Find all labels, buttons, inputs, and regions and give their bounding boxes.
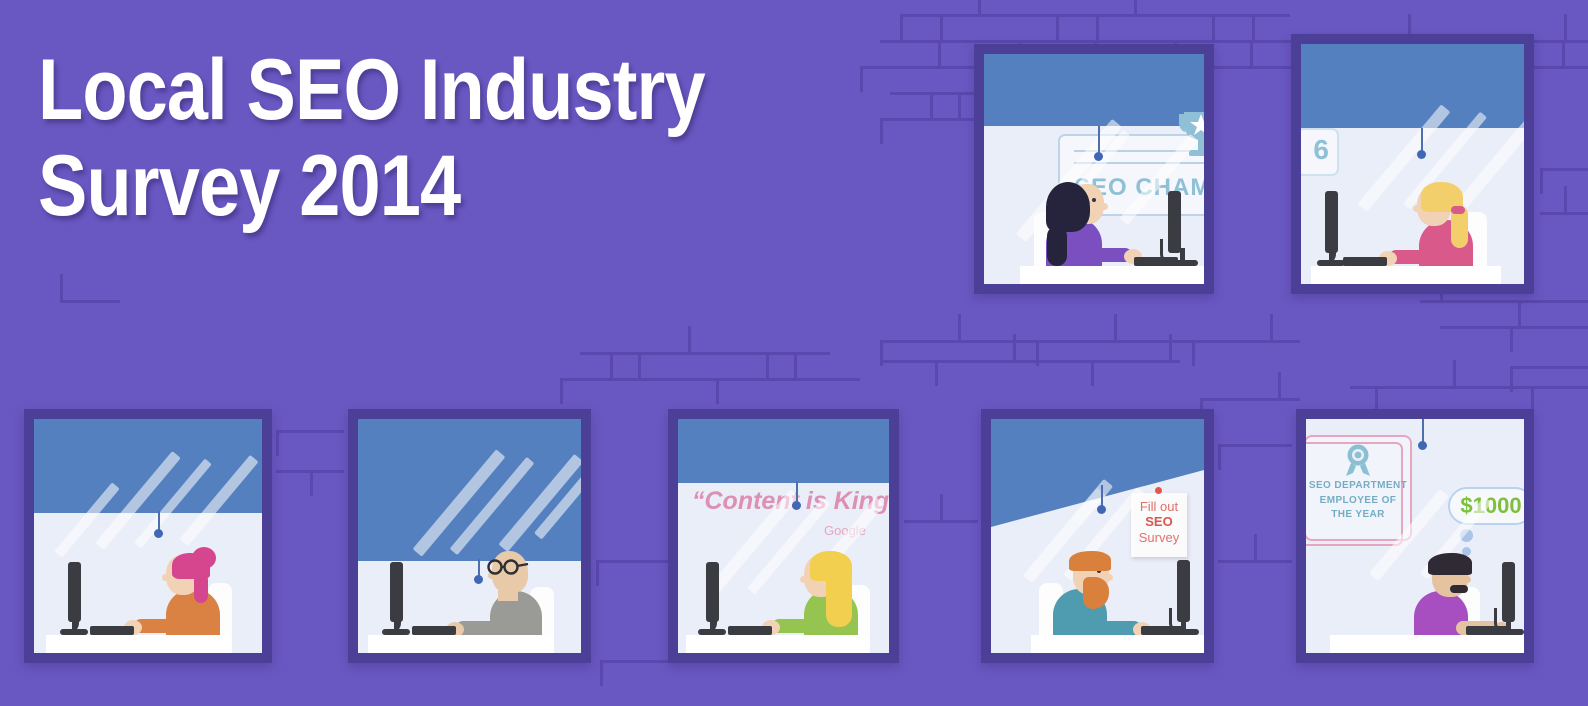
brick-line (276, 430, 344, 433)
brick-joint (1096, 14, 1099, 40)
lamp-bulb (1418, 441, 1427, 450)
note-line-2: SEO (1131, 514, 1187, 529)
monitor-cable (384, 608, 401, 633)
window-pink-hair (24, 409, 272, 663)
brick-joint (1518, 300, 1521, 326)
brick-joint (1250, 40, 1253, 66)
round-glasses-icon (486, 559, 530, 575)
monitor-neck (1180, 248, 1185, 260)
keyboard (728, 626, 772, 635)
brick-joint (900, 14, 903, 40)
sky-blind (678, 419, 889, 483)
lamp-bulb (792, 501, 801, 510)
person-nose (1413, 205, 1420, 212)
brick-joint (610, 352, 613, 378)
brick-joint (1270, 314, 1273, 340)
brick-joint (1212, 14, 1215, 40)
certificate-line-2: EMPLOYEE OF (1306, 494, 1410, 509)
keyboard (412, 626, 456, 635)
brick-line (1540, 212, 1588, 215)
lamp-wire (1421, 128, 1423, 152)
brick-line (1200, 398, 1300, 401)
monitor-cable (1169, 608, 1186, 633)
brick-line (1218, 560, 1292, 563)
person-hair-back (1047, 226, 1067, 266)
window-pane: SEO DEPARTMENT EMPLOYEE OF THE YEAR $100… (1306, 419, 1524, 653)
brick-line (1350, 386, 1588, 389)
person-beard (1083, 577, 1109, 609)
lamp-wire (1101, 485, 1103, 507)
lamp-wire (1098, 126, 1100, 154)
brick-joint (1114, 314, 1117, 340)
brick-joint (1091, 360, 1094, 386)
brick-joint (310, 470, 313, 496)
brick-joint (716, 378, 719, 404)
brick-joint (940, 494, 943, 520)
desk (1020, 266, 1204, 284)
brick-joint (1056, 14, 1059, 40)
hair-tie (1451, 206, 1465, 214)
brick-line (1510, 366, 1588, 369)
title-line-2: Survey 2014 (38, 138, 705, 234)
lamp-bulb (154, 529, 163, 538)
window-pane (34, 419, 262, 653)
monitor-cable (62, 608, 79, 633)
window-fill-out-survey: Fill out SEO Survey (981, 409, 1214, 663)
brick-joint (1540, 168, 1543, 194)
sky-blind (1301, 44, 1524, 128)
brick-line (1218, 444, 1292, 447)
note-line-1: Fill out (1131, 499, 1187, 514)
keyboard (1343, 257, 1387, 266)
person-nose (1464, 576, 1471, 583)
person-hair-long (826, 571, 852, 627)
brick-joint (1252, 14, 1255, 40)
person-nose (1101, 203, 1108, 210)
brick-line (880, 118, 980, 121)
person-nose (1106, 574, 1113, 581)
lamp-wire (1422, 419, 1424, 443)
brick-joint (930, 92, 933, 118)
person-hair (1069, 551, 1111, 571)
person-eye (1092, 198, 1096, 202)
brick-joint (766, 352, 769, 378)
monitor-cable (1160, 239, 1177, 264)
brick-joint (978, 0, 981, 14)
sky-blind (34, 419, 262, 513)
award-certificate: SEO DEPARTMENT EMPLOYEE OF THE YEAR (1306, 435, 1412, 541)
brick-joint (1562, 40, 1565, 66)
desk (1311, 266, 1501, 284)
person-mustache (1450, 585, 1468, 593)
brick-joint (935, 360, 938, 386)
brick-joint (1169, 334, 1172, 360)
brick-joint (600, 660, 603, 686)
person-hair (1046, 182, 1090, 232)
window-glasses-man (348, 409, 591, 663)
brick-line (600, 660, 668, 663)
brick-joint (958, 314, 961, 340)
desk (686, 635, 868, 653)
survey-note: Fill out SEO Survey (1131, 493, 1187, 557)
brick-line (880, 360, 1180, 363)
brick-joint (958, 92, 961, 118)
keyboard (90, 626, 134, 635)
number-board: 6 (1301, 128, 1339, 176)
lamp-bulb (1097, 505, 1106, 514)
brick-joint (276, 430, 279, 456)
brick-joint (880, 118, 883, 144)
window-pane: SEO CHAMPION (984, 54, 1204, 284)
brick-joint (794, 352, 797, 378)
lamp-wire (796, 481, 798, 503)
window-content-is-king: “Content is King” Google (668, 409, 899, 663)
award-ribbon-icon (1342, 443, 1374, 477)
certificate-line-3: THE YEAR (1306, 508, 1410, 523)
brick-joint (60, 274, 63, 300)
brick-line (1440, 326, 1588, 329)
brick-joint (1192, 340, 1195, 366)
brick-line (580, 352, 830, 355)
monitor-cable (1494, 608, 1511, 633)
brick-joint (1134, 0, 1137, 14)
window-employee-of-the-year: SEO DEPARTMENT EMPLOYEE OF THE YEAR $100… (1296, 409, 1534, 663)
title-line-1: Local SEO Industry (38, 42, 705, 138)
monitor-cable (700, 608, 717, 633)
brick-line (1540, 168, 1588, 171)
brick-joint (596, 560, 599, 586)
note-line-3: Survey (1131, 530, 1187, 545)
certificate-text: SEO DEPARTMENT EMPLOYEE OF THE YEAR (1306, 479, 1410, 523)
lamp-bulb (474, 575, 483, 584)
brick-joint (940, 14, 943, 40)
brick-joint (1218, 444, 1221, 470)
brick-line (1420, 300, 1588, 303)
brick-line (596, 560, 668, 563)
brick-joint (1254, 534, 1257, 560)
brick-joint (1453, 360, 1456, 386)
brick-line (560, 378, 860, 381)
page-title: Local SEO Industry Survey 2014 (38, 42, 705, 235)
person-nose (800, 576, 807, 583)
number-label: 6 (1313, 134, 1329, 166)
brick-joint (1510, 326, 1513, 352)
desk (1031, 635, 1204, 653)
infographic-header: Local SEO Industry Survey 2014 SEO CHAMP… (0, 0, 1588, 706)
person-hair (1428, 553, 1472, 575)
window-pane: “Content is King” Google (678, 419, 889, 653)
desk (46, 635, 230, 653)
desk (368, 635, 554, 653)
brick-joint (938, 40, 941, 66)
brick-line (60, 300, 120, 303)
brick-joint (860, 66, 863, 92)
note-pin-icon (1155, 487, 1162, 494)
certificate-line-1: SEO DEPARTMENT (1306, 479, 1410, 494)
window-number-six: 6 (1291, 34, 1534, 294)
person-hair-bun (192, 547, 216, 569)
window-pane (358, 419, 581, 653)
lamp-bulb (1094, 152, 1103, 161)
brick-joint (688, 326, 691, 352)
window-pane: 6 (1301, 44, 1524, 284)
lamp-bulb (1417, 150, 1426, 159)
brick-joint (638, 352, 641, 378)
brick-line (900, 14, 1290, 17)
brick-joint (560, 378, 563, 404)
monitor-cable (1319, 239, 1336, 264)
brick-joint (1278, 372, 1281, 398)
brick-joint (1013, 334, 1016, 360)
person-hair-side (194, 573, 208, 603)
sky-blind (984, 54, 1204, 126)
brick-line (880, 340, 1300, 343)
desk (1330, 635, 1524, 653)
window-pane: Fill out SEO Survey (991, 419, 1204, 653)
person-nose (162, 574, 169, 581)
brick-joint (1564, 186, 1567, 212)
window-seo-champion: SEO CHAMPION (974, 44, 1214, 294)
brick-line (904, 520, 978, 523)
lamp-wire (158, 511, 160, 531)
brick-joint (1564, 14, 1567, 40)
